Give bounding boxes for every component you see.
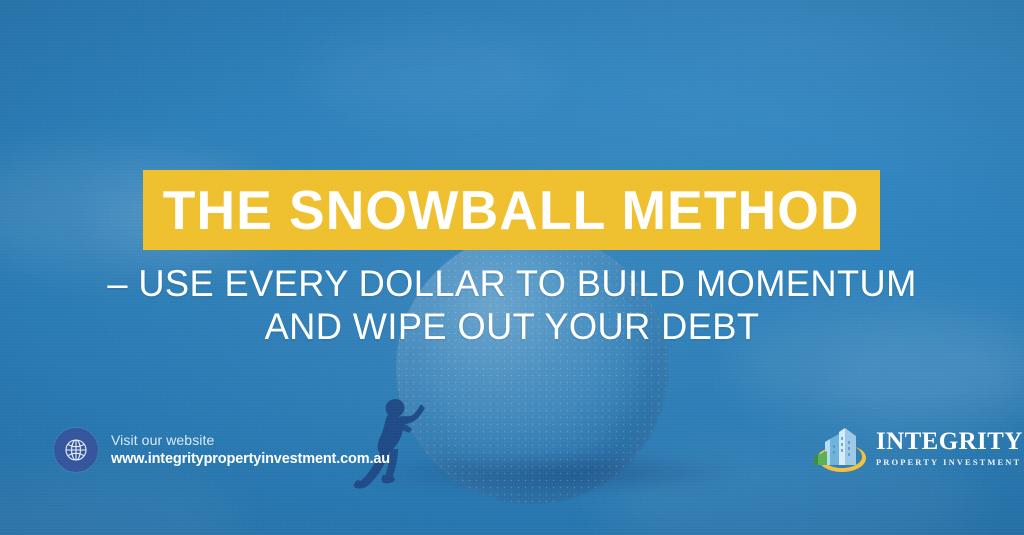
headline-banner: THE SNOWBALL METHOD: [143, 170, 880, 250]
website-url[interactable]: www.integritypropertyinvestment.com.au: [111, 450, 390, 470]
subtitle: – USE EVERY DOLLAR TO BUILD MOMENTUM AND…: [62, 262, 962, 349]
logo-tagline: PROPERTY INVESTMENT: [876, 454, 1023, 467]
building-logo-icon: [812, 419, 872, 475]
globe-icon: [54, 428, 98, 472]
promo-banner: THE SNOWBALL METHOD – USE EVERY DOLLAR T…: [0, 0, 1024, 535]
subtitle-line-2: AND WIPE OUT YOUR DEBT: [71, 305, 953, 348]
subtitle-line-1: – USE EVERY DOLLAR TO BUILD MOMENTUM: [71, 262, 953, 305]
logo-name: INTEGRITY: [876, 429, 1023, 454]
logo-wordmark: INTEGRITY PROPERTY INVESTMENT: [876, 427, 1023, 467]
website-text: Visit our website www.integritypropertyi…: [111, 430, 390, 470]
brand-logo[interactable]: INTEGRITY PROPERTY INVESTMENT: [812, 419, 982, 475]
page-title: THE SNOWBALL METHOD: [163, 183, 860, 238]
visit-label: Visit our website: [111, 430, 390, 450]
website-cta[interactable]: Visit our website www.integritypropertyi…: [54, 428, 390, 472]
